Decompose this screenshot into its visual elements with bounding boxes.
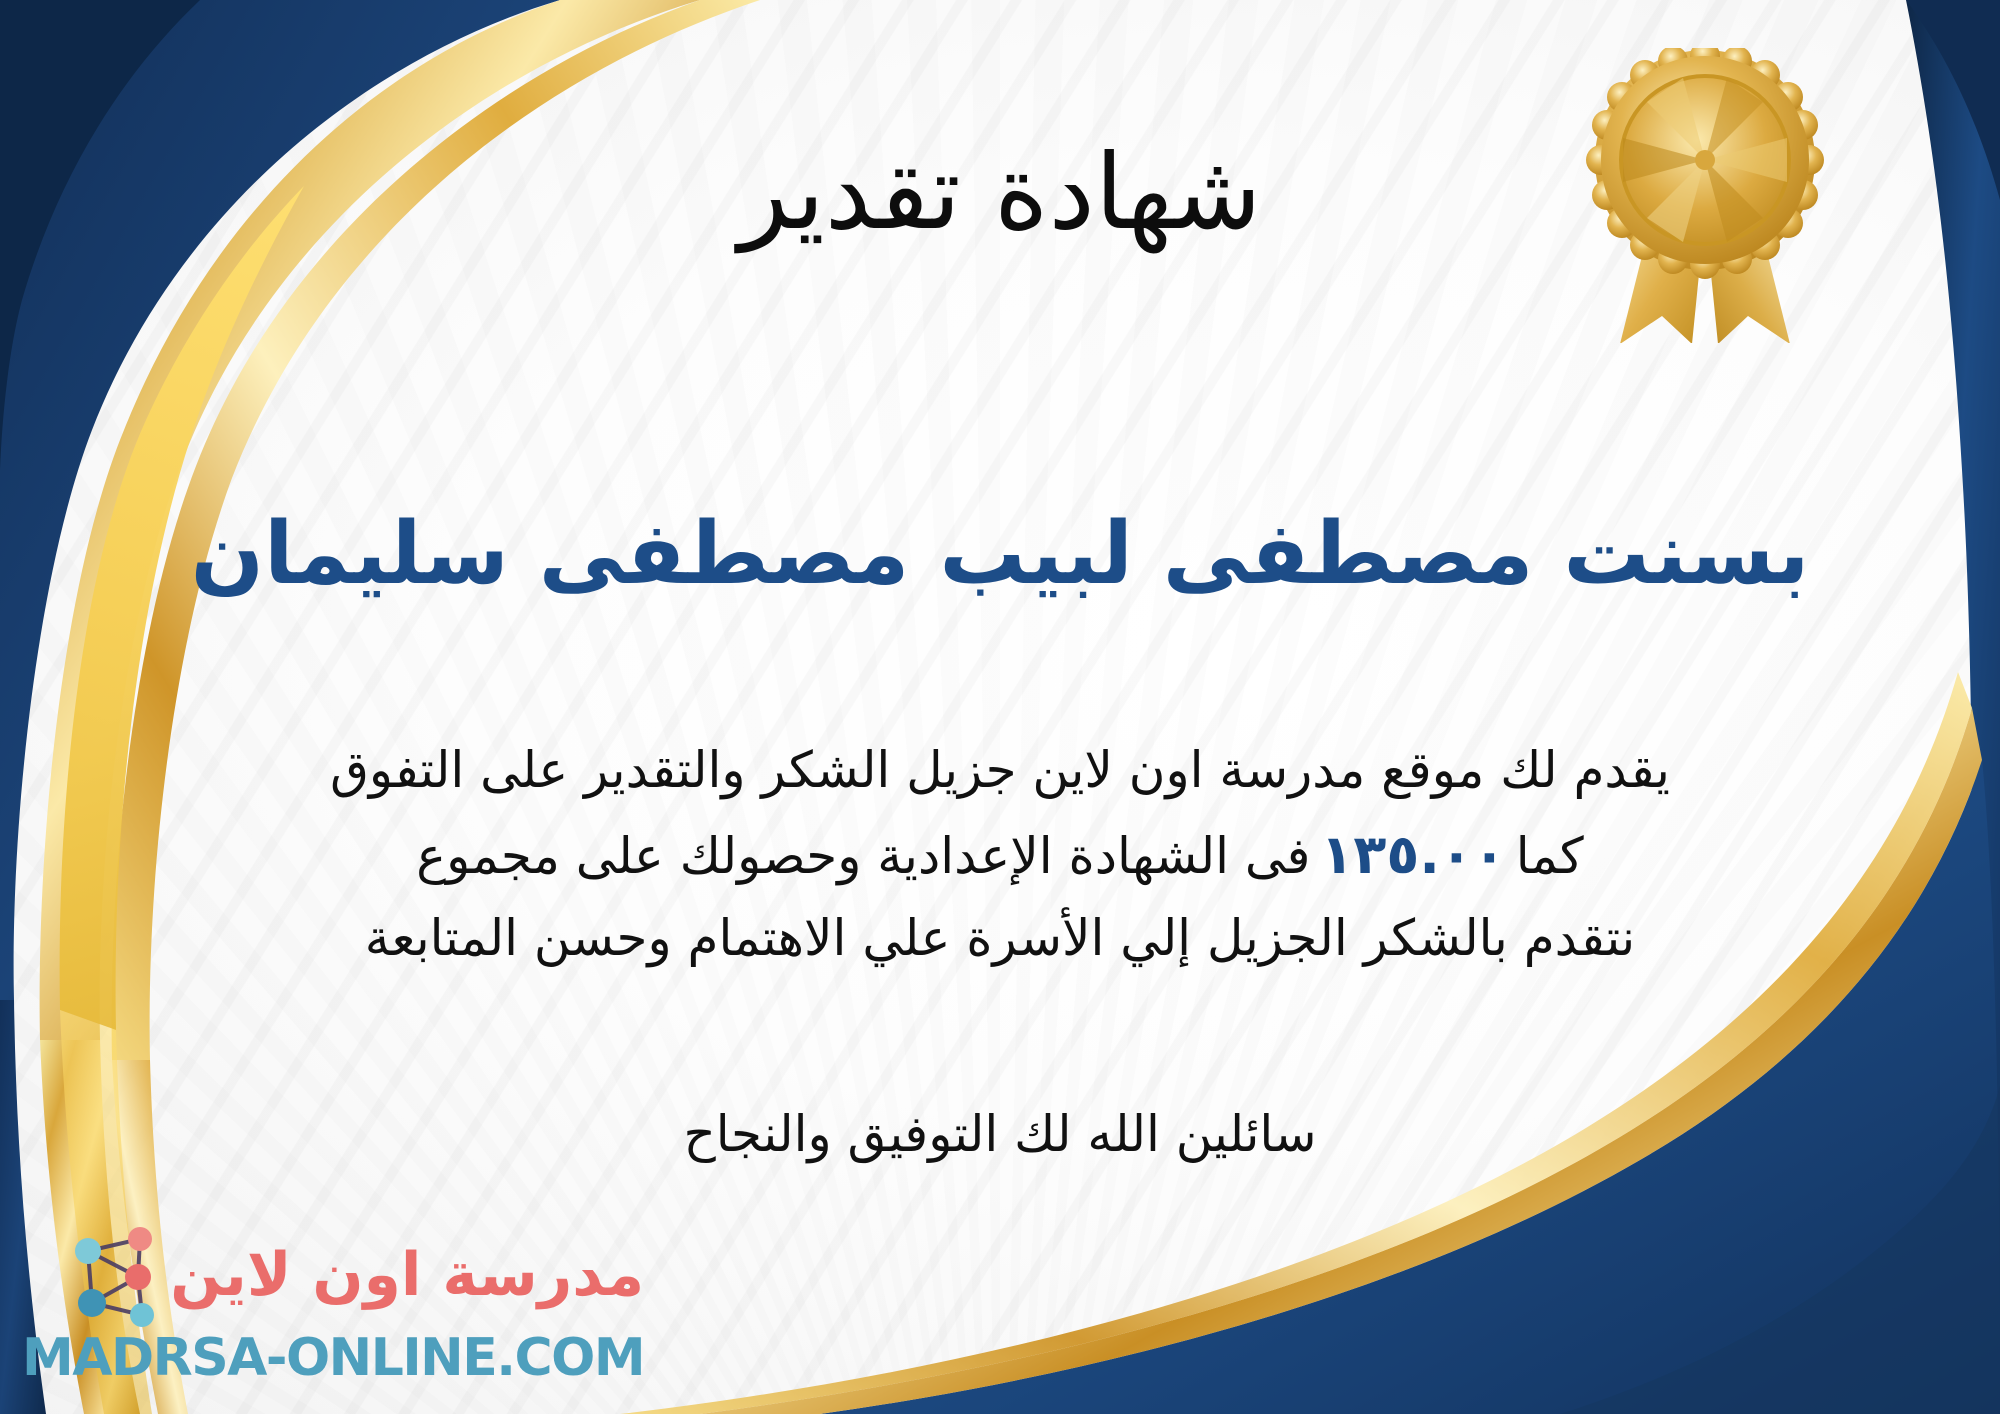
- certificate-body: يقدم لك موقع مدرسة اون لاين جزيل الشكر و…: [150, 730, 1850, 979]
- certificate-page: شهادة تقدير بسنت مصطفى لبيب مصطفى سليمان…: [0, 0, 2000, 1414]
- body-line-1: يقدم لك موقع مدرسة اون لاين جزيل الشكر و…: [150, 730, 1850, 811]
- logo-domain-text[interactable]: MADRSA-ONLINE.COM: [22, 1331, 644, 1386]
- network-nodes-icon: [68, 1221, 160, 1329]
- body-line-2-suffix: كما: [1516, 816, 1584, 897]
- body-line-2: كما ١٣٥.٠٠ فى الشهادة الإعدادية وحصولك ع…: [150, 811, 1850, 898]
- certificate-content: شهادة تقدير بسنت مصطفى لبيب مصطفى سليمان…: [0, 0, 2000, 1414]
- student-name: بسنت مصطفى لبيب مصطفى سليمان: [0, 505, 2000, 604]
- logo-arabic-text: مدرسة اون لاين: [170, 1244, 644, 1307]
- logo-top-row: مدرسة اون لاين: [68, 1221, 644, 1329]
- certificate-title: شهادة تقدير: [0, 138, 2000, 247]
- body-line-3: نتقدم بالشكر الجزيل إلي الأسرة علي الاهت…: [150, 898, 1850, 979]
- body-line-2-prefix: فى الشهادة الإعدادية وحصولك على مجموع: [416, 816, 1310, 897]
- closing-wish: سائلين الله لك التوفيق والنجاح: [0, 1105, 2000, 1163]
- site-logo[interactable]: مدرسة اون لاين MADRSA-ONLINE.COM: [22, 1221, 644, 1386]
- grade-total-value: ١٣٥.٠٠: [1310, 811, 1515, 898]
